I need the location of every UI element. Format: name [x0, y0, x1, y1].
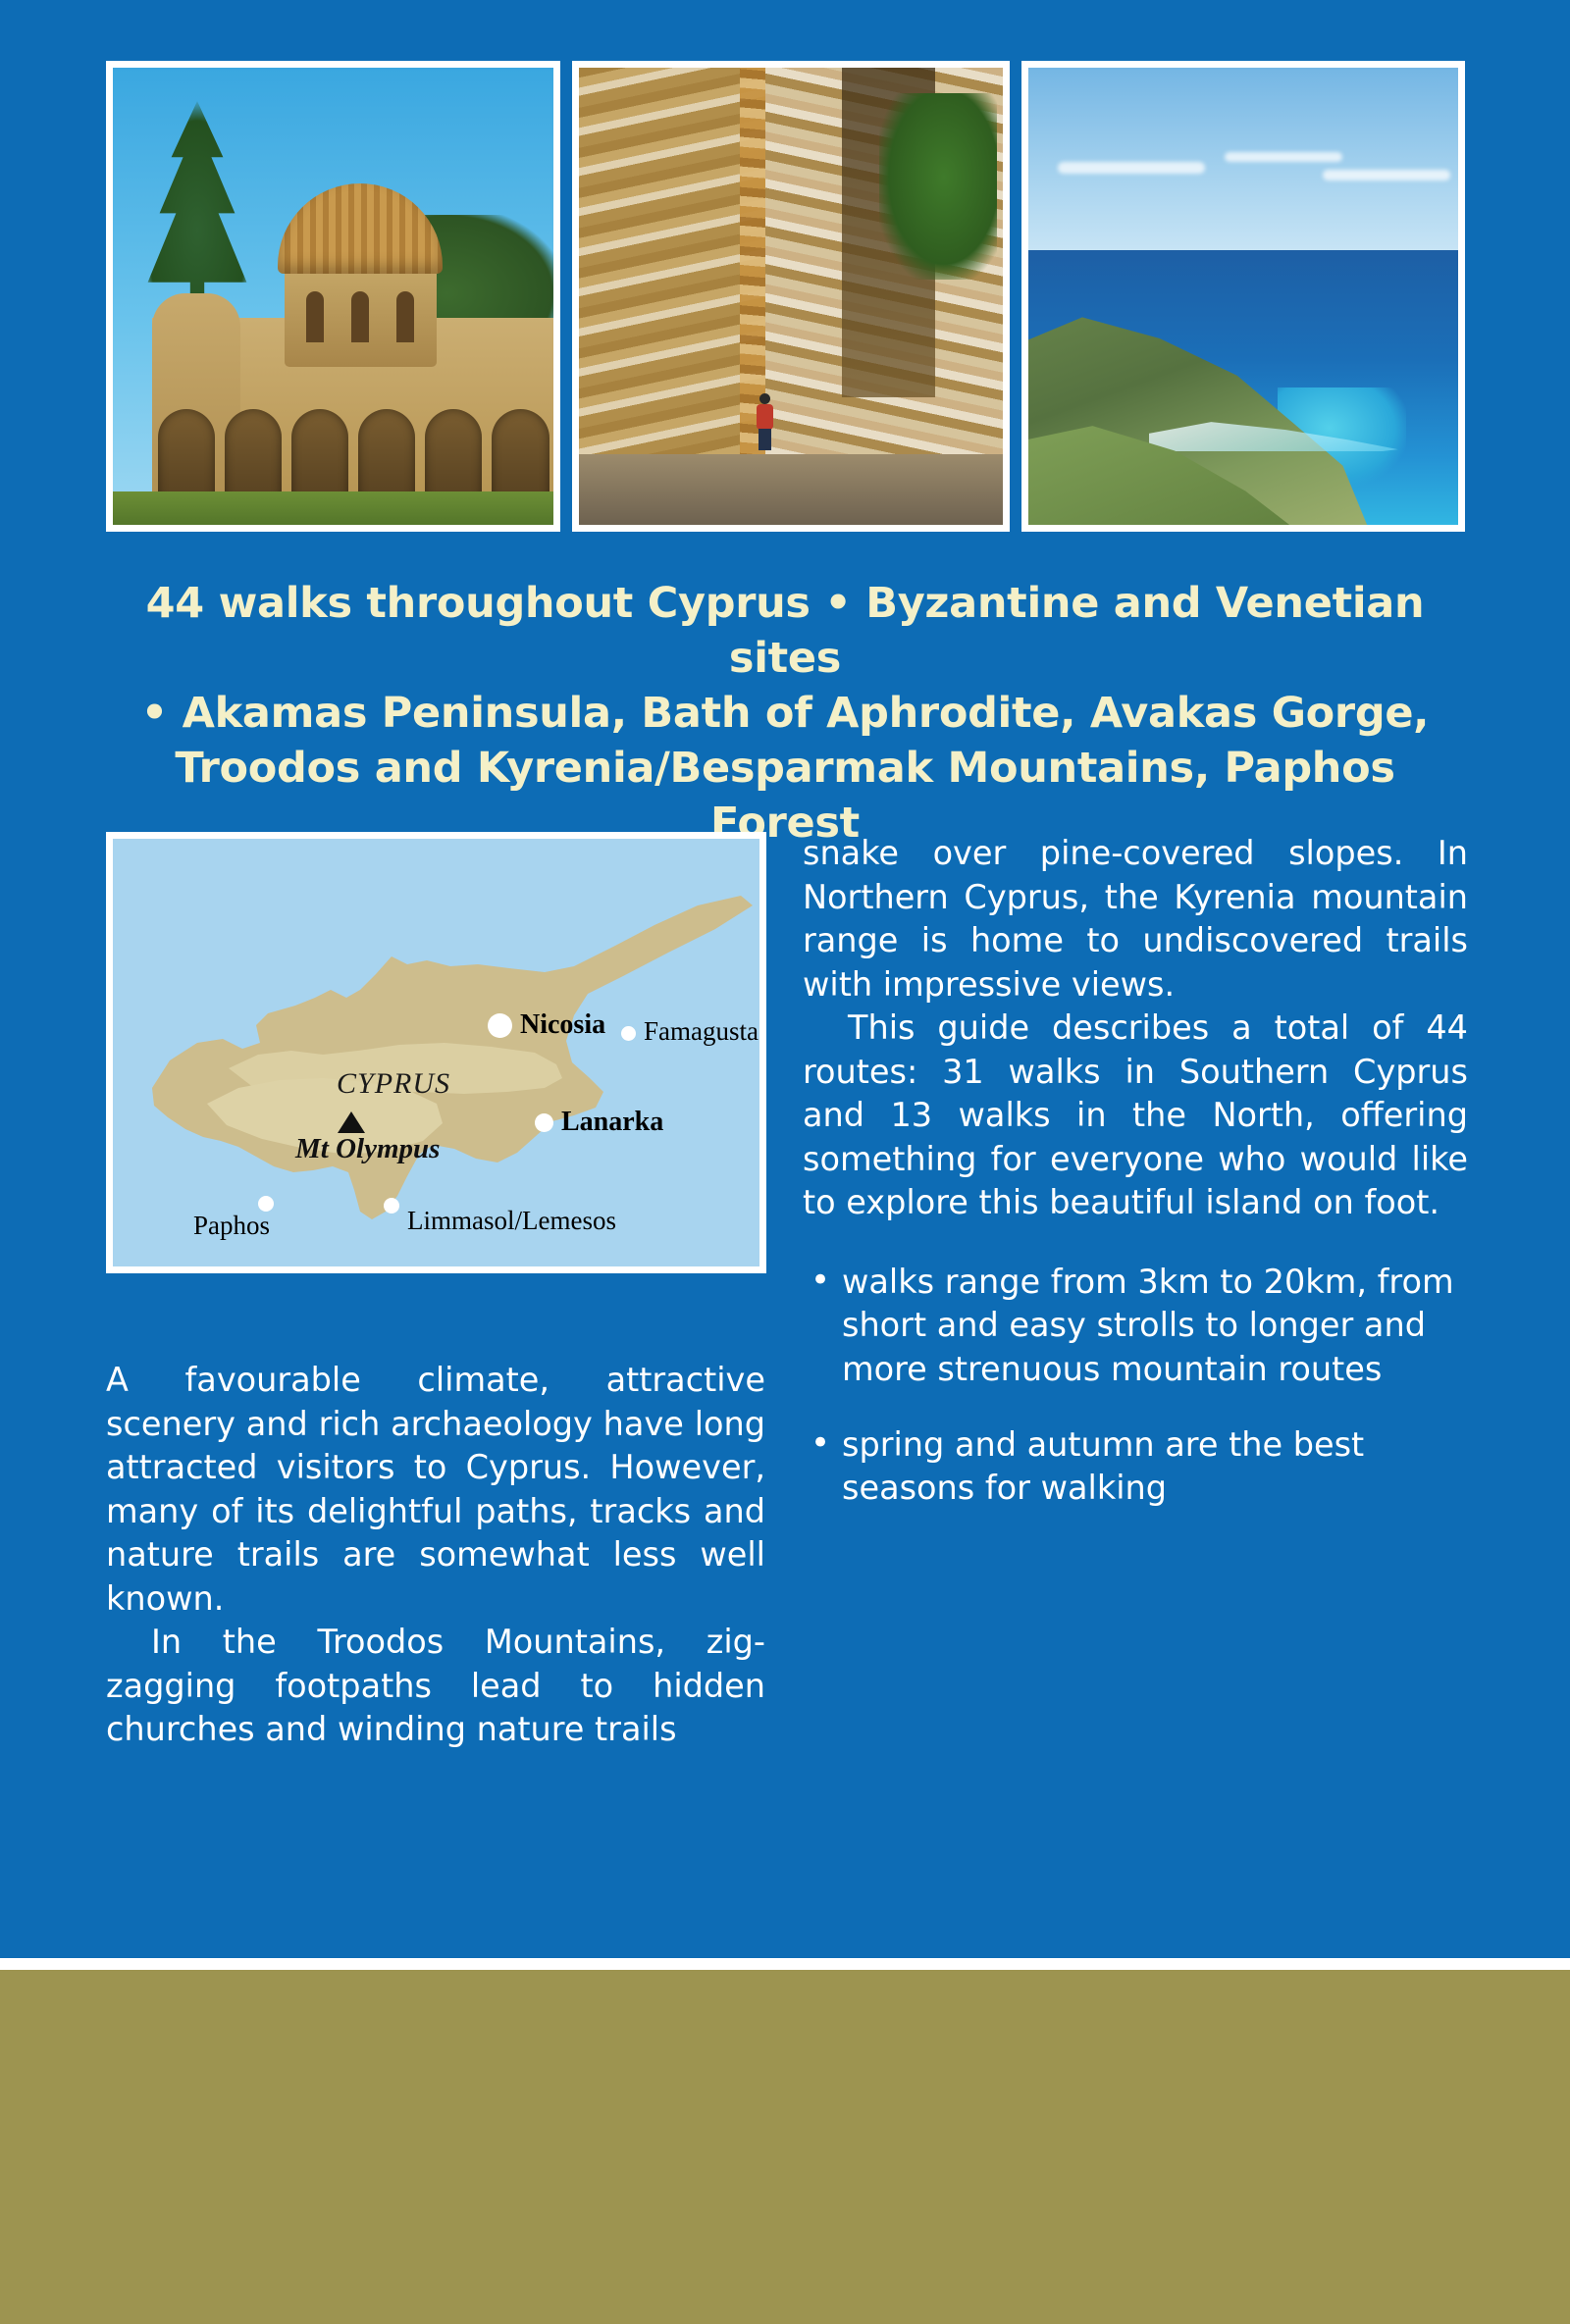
mountain-peak-icon: [338, 1111, 365, 1133]
byzantine-abbey-photo: [106, 61, 560, 532]
map-country-label: CYPRUS: [337, 1067, 450, 1101]
photo-strip: [106, 61, 1465, 532]
feature-bullet-item: walks range from 3km to 20km, from short…: [803, 1261, 1468, 1392]
city-dot-icon: [621, 1026, 636, 1041]
map-city-label: Lanarka: [561, 1107, 663, 1138]
city-dot-icon: [488, 1013, 512, 1038]
hiker-figure: [754, 393, 775, 450]
headline-strapline: 44 walks throughout Cyprus • Byzantine a…: [98, 577, 1472, 851]
publisher-band: CICERONE www.cicerone.co.uk WALKING | CY…: [0, 1970, 1570, 2324]
city-dot-icon: [258, 1196, 274, 1212]
blurb-paragraph-2: In the Troodos Mountains, zig-zagging fo…: [106, 1621, 765, 1752]
map-peak-label: Mt Olympus: [295, 1133, 440, 1165]
map-city-label: Famagusta: [644, 1016, 759, 1047]
book-back-cover: 44 walks throughout Cyprus • Byzantine a…: [0, 0, 1570, 2324]
band-divider: [0, 1958, 1570, 1970]
feature-bullet-list: walks range from 3km to 20km, from short…: [803, 1261, 1468, 1511]
city-dot-icon: [384, 1198, 399, 1214]
akamas-coast-photo: [1021, 61, 1465, 532]
city-dot-icon: [535, 1113, 553, 1132]
headline-line-2: • Akamas Peninsula, Bath of Aphrodite, A…: [98, 687, 1472, 742]
cyprus-locator-map: CYPRUS Mt Olympus Nicosia Famagusta Lana…: [106, 832, 766, 1273]
map-city-label: Nicosia: [520, 1009, 605, 1041]
blurb-paragraph-1: A favourable climate, attractive scenery…: [106, 1359, 765, 1621]
headline-line-1: 44 walks throughout Cyprus • Byzantine a…: [98, 577, 1472, 687]
map-city-label: Limmasol/Lemesos: [407, 1206, 616, 1236]
feature-bullet-item: spring and autumn are the best seasons f…: [803, 1423, 1468, 1511]
map-city-label: Paphos: [193, 1211, 270, 1241]
blurb-left-column: A favourable climate, attractive scenery…: [106, 1359, 765, 1752]
blurb-right-column: snake over pine-covered slopes. In North…: [803, 832, 1468, 1542]
blurb-paragraph-3: snake over pine-covered slopes. In North…: [803, 832, 1468, 1007]
blurb-paragraph-4: This guide describes a total of 44 route…: [803, 1007, 1468, 1225]
avakas-gorge-photo: [572, 61, 1011, 532]
